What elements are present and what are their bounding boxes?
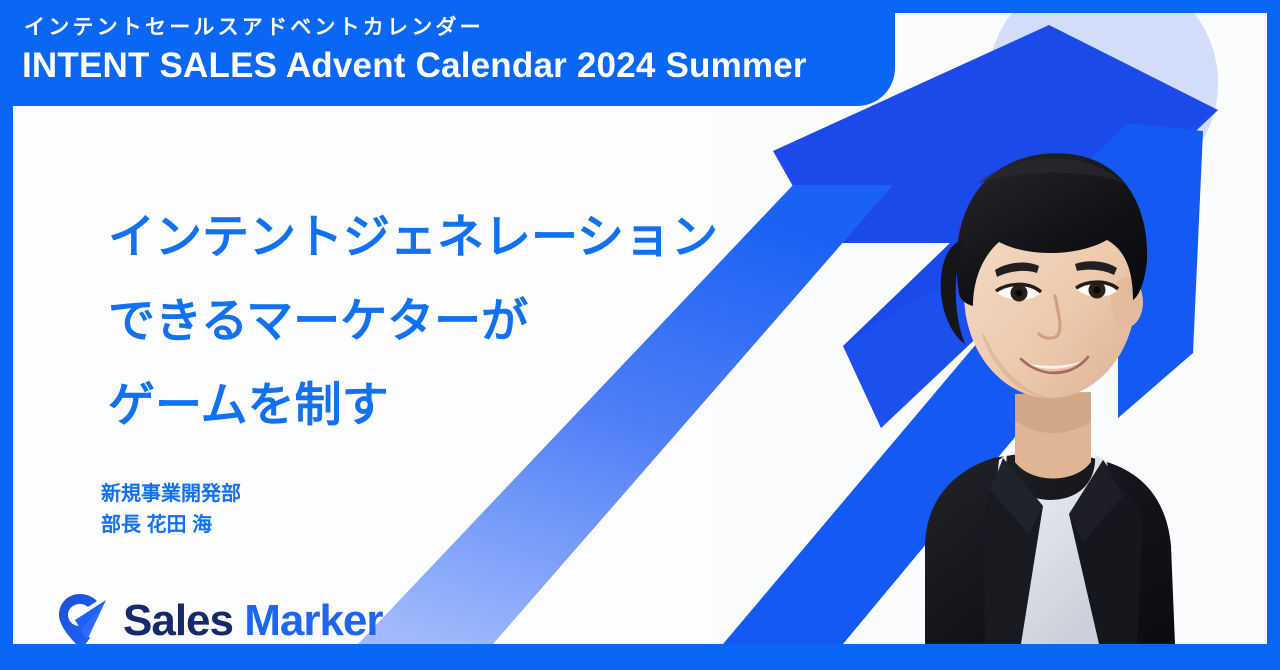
speaker-department: 新規事業開発部 — [101, 479, 241, 510]
sales-marker-logo: Sales Marker — [57, 593, 383, 644]
location-pin-check-icon — [57, 593, 109, 644]
background-tone-band — [715, 13, 1267, 644]
logo-word-marker: Marker — [233, 596, 383, 644]
logo-wordmark: Sales Marker — [123, 599, 383, 643]
header-title: INTENT SALES Advent Calendar 2024 Summer — [22, 48, 807, 83]
header-kicker: インテントセールスアドベントカレンダー — [24, 17, 484, 38]
headline: インテントジェネレーション できるマーケターが ゲームを制す — [108, 195, 718, 447]
speaker-info: 新規事業開発部 部長 花田 海 — [101, 479, 241, 541]
header-banner: インテントセールスアドベントカレンダー INTENT SALES Advent … — [0, 0, 895, 106]
speaker-name: 部長 花田 海 — [101, 510, 241, 541]
logo-word-sales: Sales — [123, 596, 233, 644]
slide-inner-canvas: インテントジェネレーション できるマーケターが ゲームを制す 新規事業開発部 部… — [13, 13, 1267, 644]
headline-line-1: インテントジェネレーション — [108, 195, 718, 279]
headline-line-3: ゲームを制す — [108, 363, 718, 447]
headline-line-2: できるマーケターが — [108, 279, 718, 363]
slide-canvas: インテントジェネレーション できるマーケターが ゲームを制す 新規事業開発部 部… — [0, 0, 1280, 670]
